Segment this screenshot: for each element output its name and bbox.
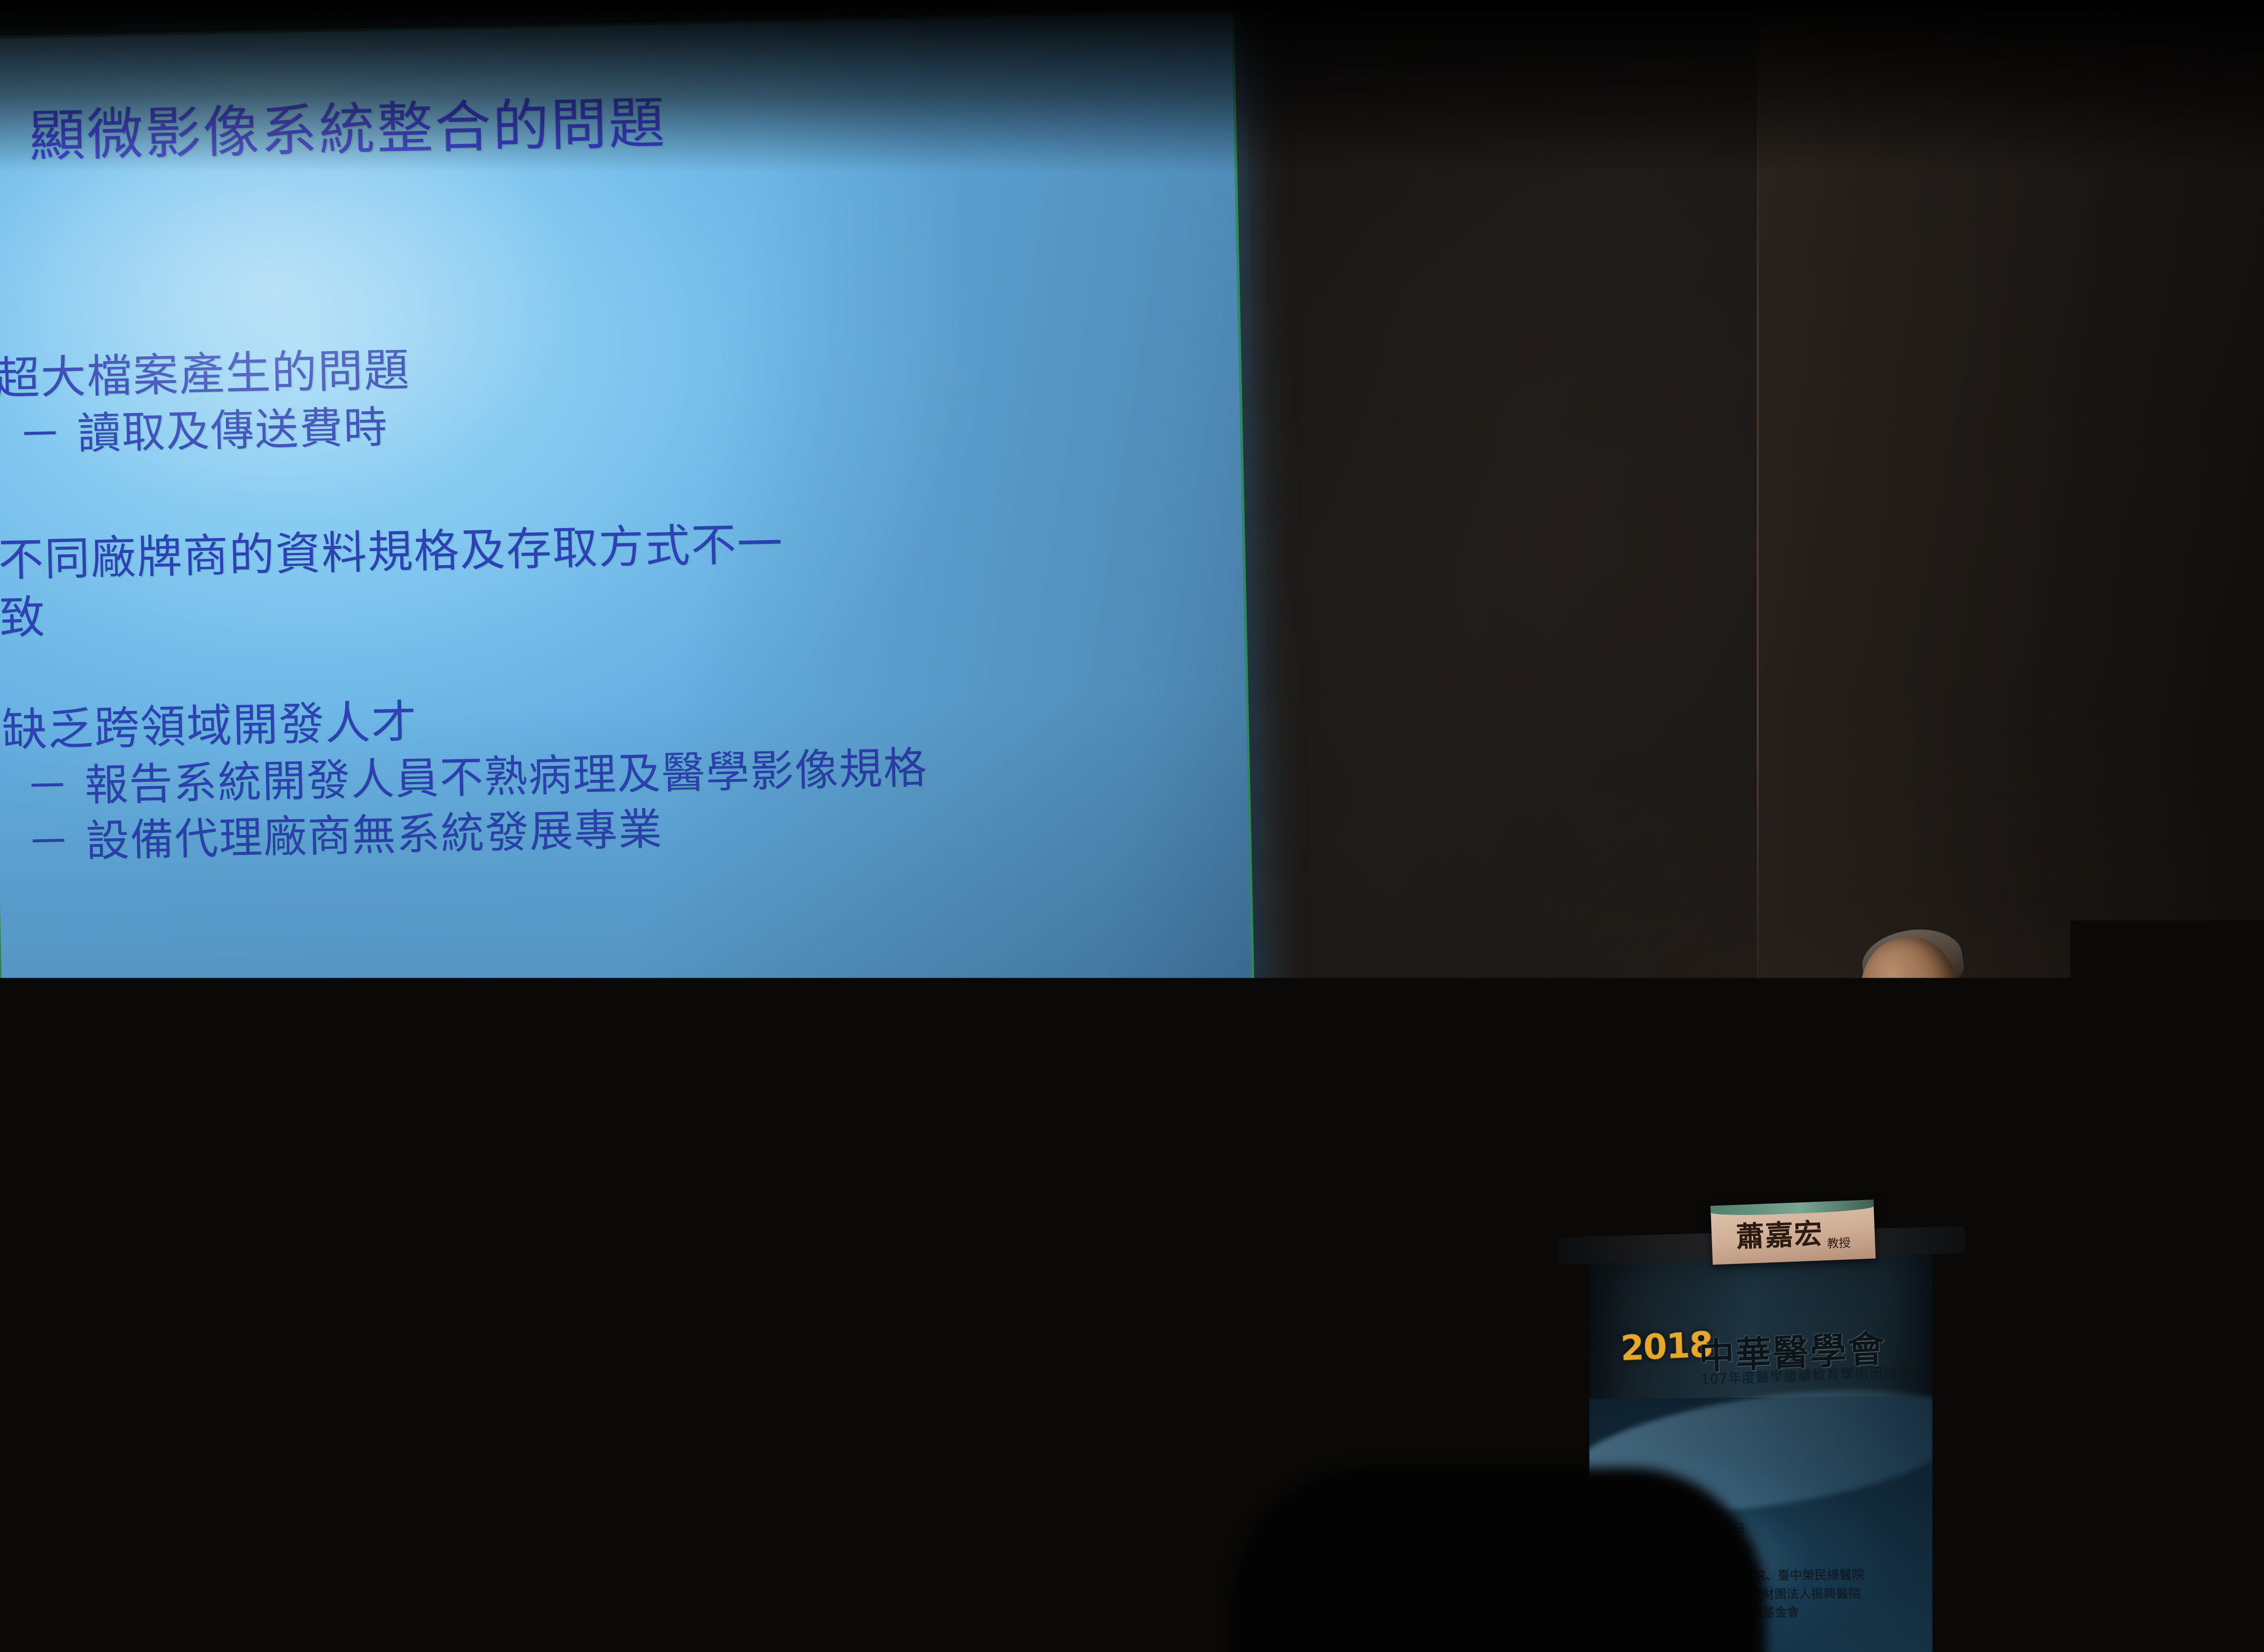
presentation-slide[interactable]: 顯微影像系統整合的問題 超大檔案產生的問題 － 讀取及傳送費時 不同廠牌商的資料… [0, 13, 1254, 1134]
ceiling-shadow [0, 0, 2264, 172]
conference-room: 顯微影像系統整合的問題 超大檔案產生的問題 － 讀取及傳送費時 不同廠牌商的資料… [0, 0, 2264, 1652]
floor-shadow [0, 1244, 2264, 1652]
slide-content: 顯微影像系統整合的問題 超大檔案產生的問題 － 讀取及傳送費時 不同廠牌商的資料… [0, 13, 1254, 1134]
slide-body: 超大檔案產生的問題 － 讀取及傳送費時 不同廠牌商的資料規格及存取方式不一 致 … [0, 326, 1222, 873]
